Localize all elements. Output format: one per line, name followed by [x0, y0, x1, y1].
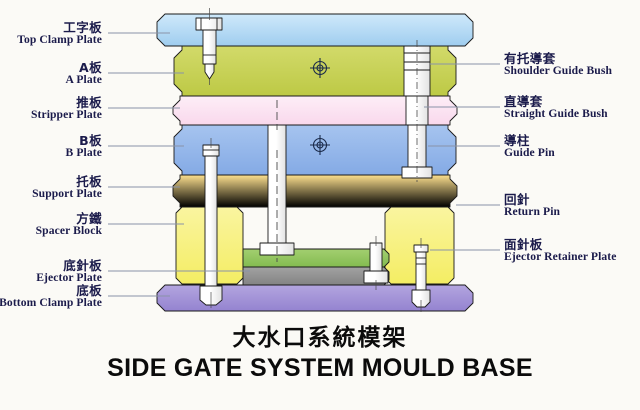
- label-en: Stripper Plate: [31, 109, 102, 121]
- label-top-clamp-plate: 工字板 Top Clamp Plate: [17, 21, 102, 46]
- component-guide-pin-right: [408, 125, 426, 167]
- figure-title: 大水口系統模架 SIDE GATE SYSTEM MOULD BASE: [0, 318, 640, 383]
- label-en: Bottom Clamp Plate: [0, 297, 102, 309]
- label-ejector-retainer-plate: 面針板 Ejector Retainer Plate: [504, 238, 617, 263]
- label-en: Ejector Retainer Plate: [504, 251, 617, 263]
- label-en: Spacer Block: [36, 225, 102, 237]
- component-cap-screw-top: [196, 18, 222, 30]
- label-en: B Plate: [66, 147, 102, 159]
- label-spacer-block: 方鐵 Spacer Block: [36, 212, 102, 237]
- label-guide-pin: 導柱 Guide Pin: [504, 134, 555, 159]
- label-en: Straight Guide Bush: [504, 108, 608, 120]
- label-en: Return Pin: [504, 206, 560, 218]
- label-straight-guide-bush: 直導套 Straight Guide Bush: [504, 95, 608, 120]
- label-bottom-clamp-plate: 底板 Bottom Clamp Plate: [0, 284, 102, 309]
- label-return-pin: 回針 Return Pin: [504, 193, 560, 218]
- label-en: Guide Pin: [504, 147, 555, 159]
- label-en: Top Clamp Plate: [17, 34, 102, 46]
- label-ejector-plate: 底針板 Ejector Plate: [36, 259, 102, 284]
- mould-base-diagram: 工字板 Top Clamp Plate A板 A Plate 推板 Stripp…: [0, 0, 640, 410]
- figure-title-en: SIDE GATE SYSTEM MOULD BASE: [0, 354, 640, 383]
- label-support-plate: 托板 Support Plate: [32, 175, 102, 200]
- label-en: Support Plate: [32, 188, 102, 200]
- label-shoulder-guide-bush: 有托導套 Shoulder Guide Bush: [504, 52, 612, 77]
- label-stripper-plate: 推板 Stripper Plate: [31, 96, 102, 121]
- component-return-pin: [370, 243, 382, 271]
- label-en: A Plate: [66, 74, 102, 86]
- label-b-plate: B板 B Plate: [66, 134, 102, 159]
- label-a-plate: A板 A Plate: [66, 61, 102, 86]
- figure-title-cn: 大水口系統模架: [0, 318, 640, 352]
- label-en: Shoulder Guide Bush: [504, 65, 612, 77]
